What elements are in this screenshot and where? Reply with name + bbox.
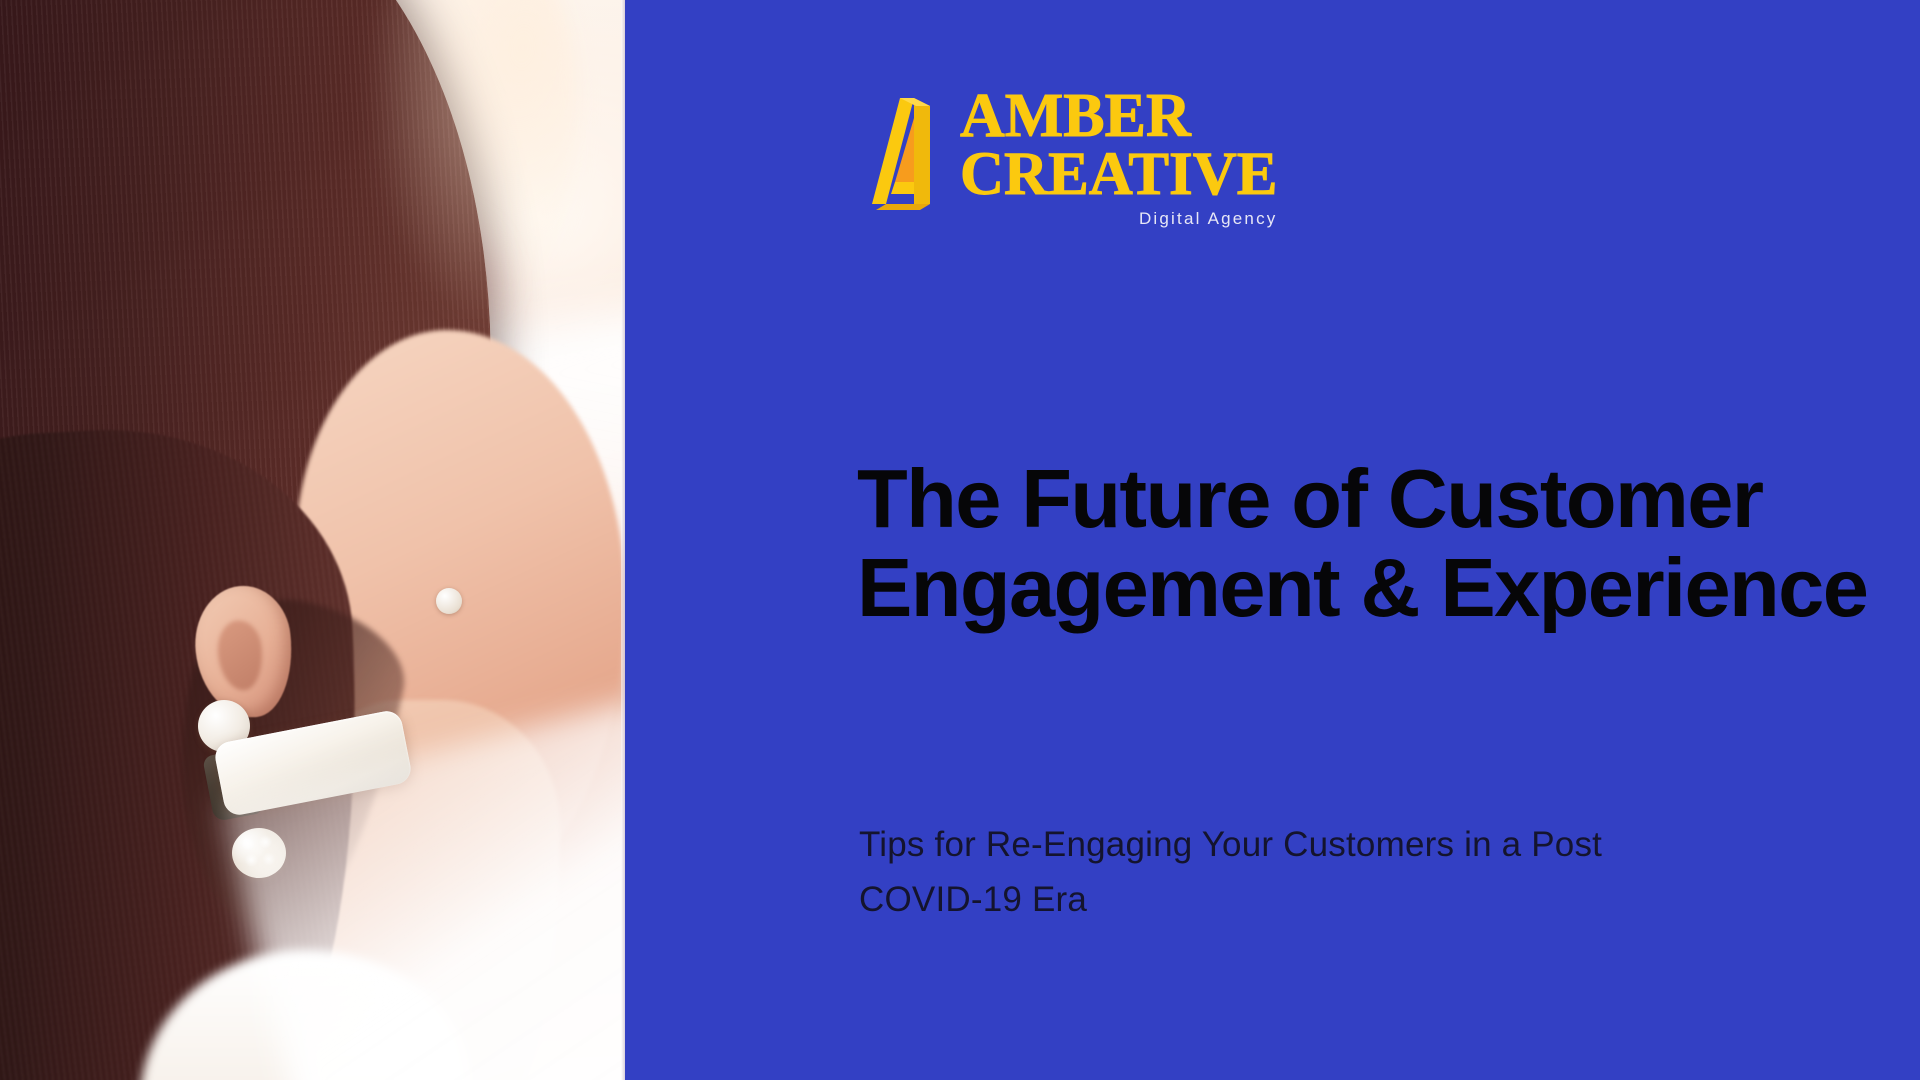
brand-name-line-2: CREATIVE [960,147,1277,203]
brand-tagline: Digital Agency [960,211,1277,227]
amber-creative-a-mark-icon [870,92,944,210]
content-panel: AMBER CREATIVE Digital Agency The Future… [625,0,1920,1080]
brand-wordmark: AMBER CREATIVE Digital Agency [960,88,1277,227]
brand-name-line-1: AMBER [960,88,1277,145]
earring-stud [436,588,462,614]
hero-photo-panel [0,0,625,1080]
subject-ear-inner [215,618,266,692]
slide-headline: The Future of Customer Engagement & Expe… [857,455,1887,633]
presentation-slide: AMBER CREATIVE Digital Agency The Future… [0,0,1920,1080]
brand-logo-lockup[interactable]: AMBER CREATIVE Digital Agency [870,88,1277,227]
slide-subtitle: Tips for Re-Engaging Your Customers in a… [859,818,1719,927]
